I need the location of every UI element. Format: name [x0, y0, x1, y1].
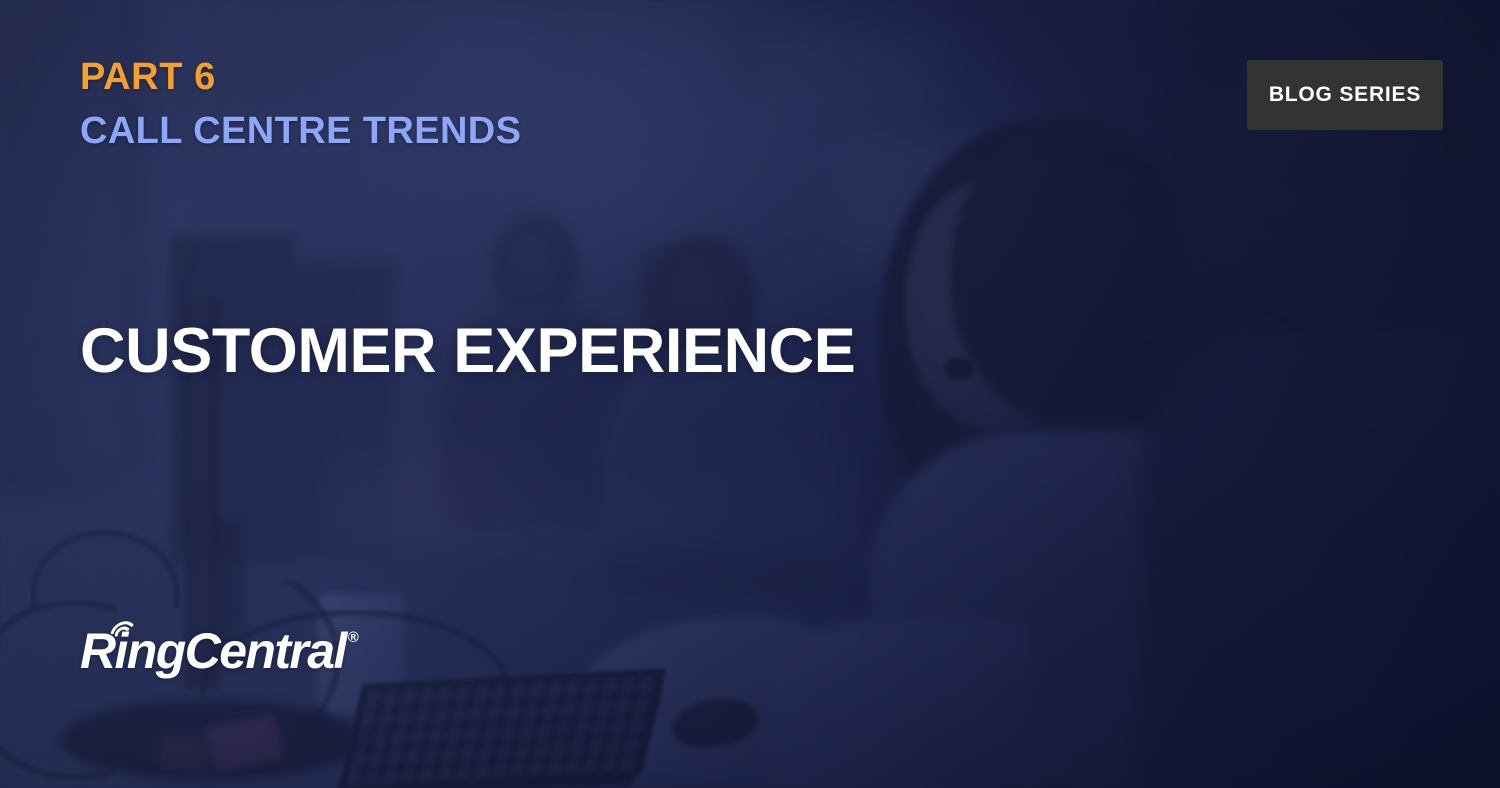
ringcentral-wordmark: RingCentral: [80, 626, 346, 676]
part-number-label: PART 6: [80, 58, 521, 96]
blog-series-banner: PART 6 CALL CENTRE TRENDS CUSTOMER EXPER…: [0, 0, 1500, 788]
registered-trademark-icon: ®: [348, 630, 359, 645]
eyebrow-block: PART 6 CALL CENTRE TRENDS: [80, 58, 521, 150]
status-badge: BLOG SERIES: [1247, 60, 1443, 130]
badge-label: BLOG SERIES: [1269, 83, 1421, 107]
banner-content: PART 6 CALL CENTRE TRENDS CUSTOMER EXPER…: [0, 0, 1500, 788]
series-name-label: CALL CENTRE TRENDS: [80, 112, 521, 150]
ringcentral-wifi-arc-icon: [108, 620, 138, 638]
ringcentral-logo: RingCentral ®: [80, 626, 359, 676]
page-title: CUSTOMER EXPERIENCE: [80, 320, 855, 383]
